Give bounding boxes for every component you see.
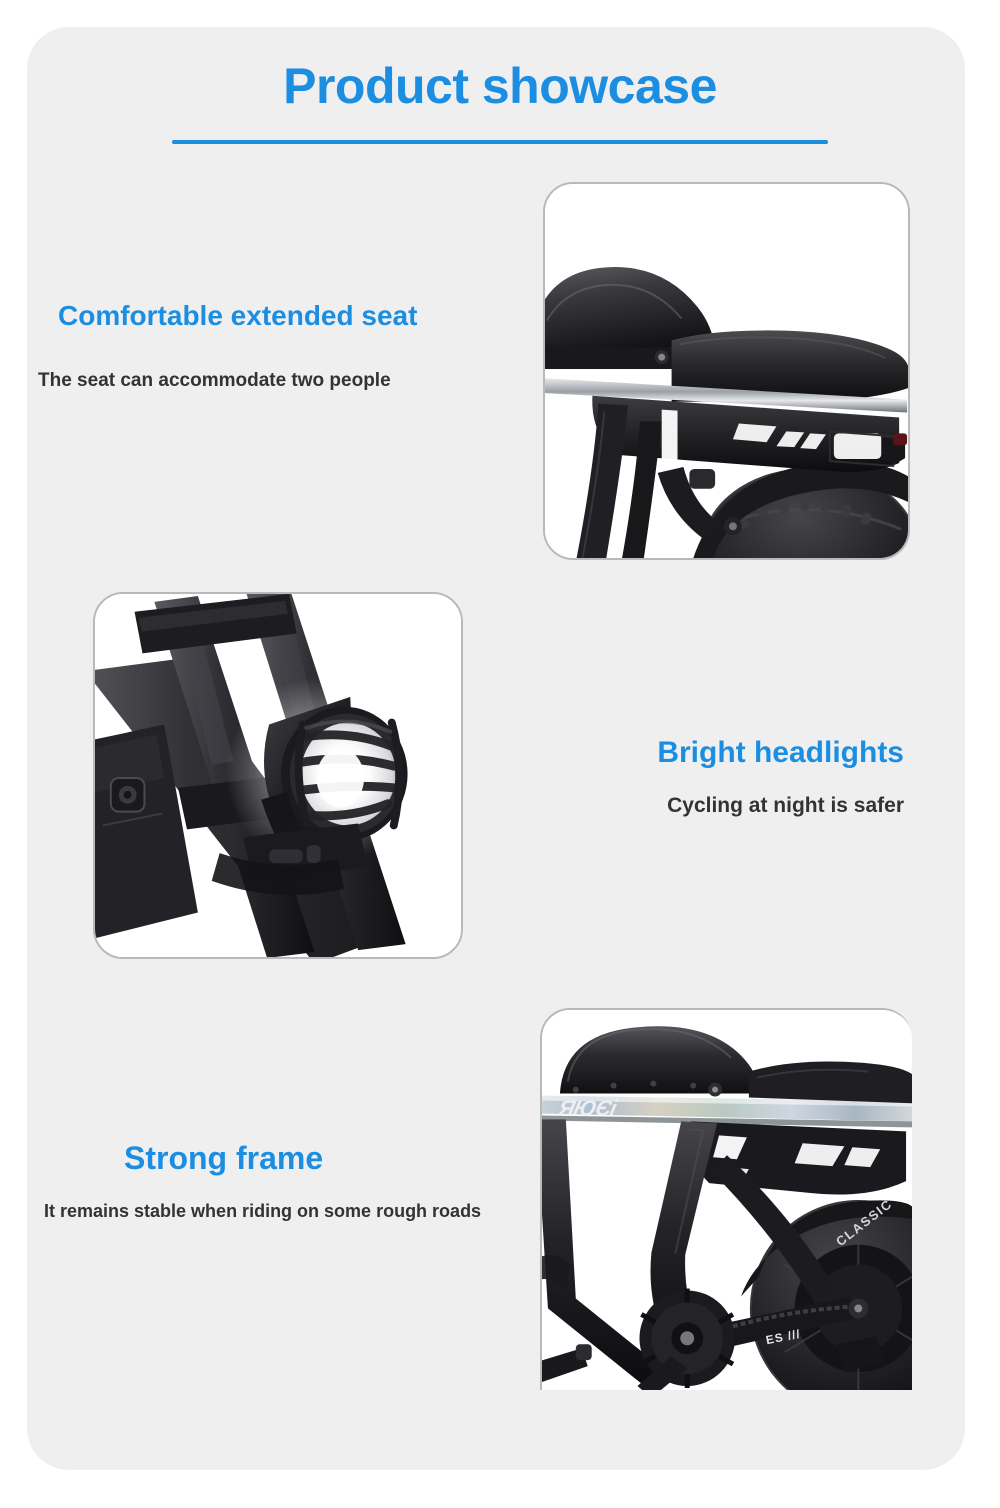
feature-block-frame: Strong frame It remains stable when ridi… (124, 1140, 481, 1222)
feature-image-frame: CLASSIC ЯЮЄi (540, 1008, 912, 1390)
feature-image-seat (543, 182, 910, 560)
feature-heading-headlight: Bright headlights (657, 736, 904, 771)
feature-subtext-headlight: Cycling at night is safer (657, 793, 904, 818)
product-showcase-page: Product showcase Comfortable extended se… (0, 0, 1000, 1508)
title-underline (172, 140, 828, 144)
feature-subtext-frame: It remains stable when riding on some ro… (44, 1201, 481, 1223)
seat-pad (749, 1061, 912, 1103)
feature-block-headlight: Bright headlights Cycling at night is sa… (657, 736, 904, 818)
headlight-illustration (95, 594, 461, 957)
seat-illustration (545, 184, 908, 558)
top-tube-brand: ЯЮЄi (555, 1096, 620, 1121)
feature-subtext-seat: The seat can accommodate two people (38, 370, 417, 393)
feature-block-seat: Comfortable extended seat The seat can a… (58, 300, 417, 393)
frame-illustration: CLASSIC ЯЮЄi (542, 1010, 912, 1390)
feature-heading-seat: Comfortable extended seat (58, 300, 417, 332)
feature-image-headlight (93, 592, 463, 959)
feature-heading-frame: Strong frame (124, 1140, 481, 1177)
page-title: Product showcase (0, 57, 1000, 115)
